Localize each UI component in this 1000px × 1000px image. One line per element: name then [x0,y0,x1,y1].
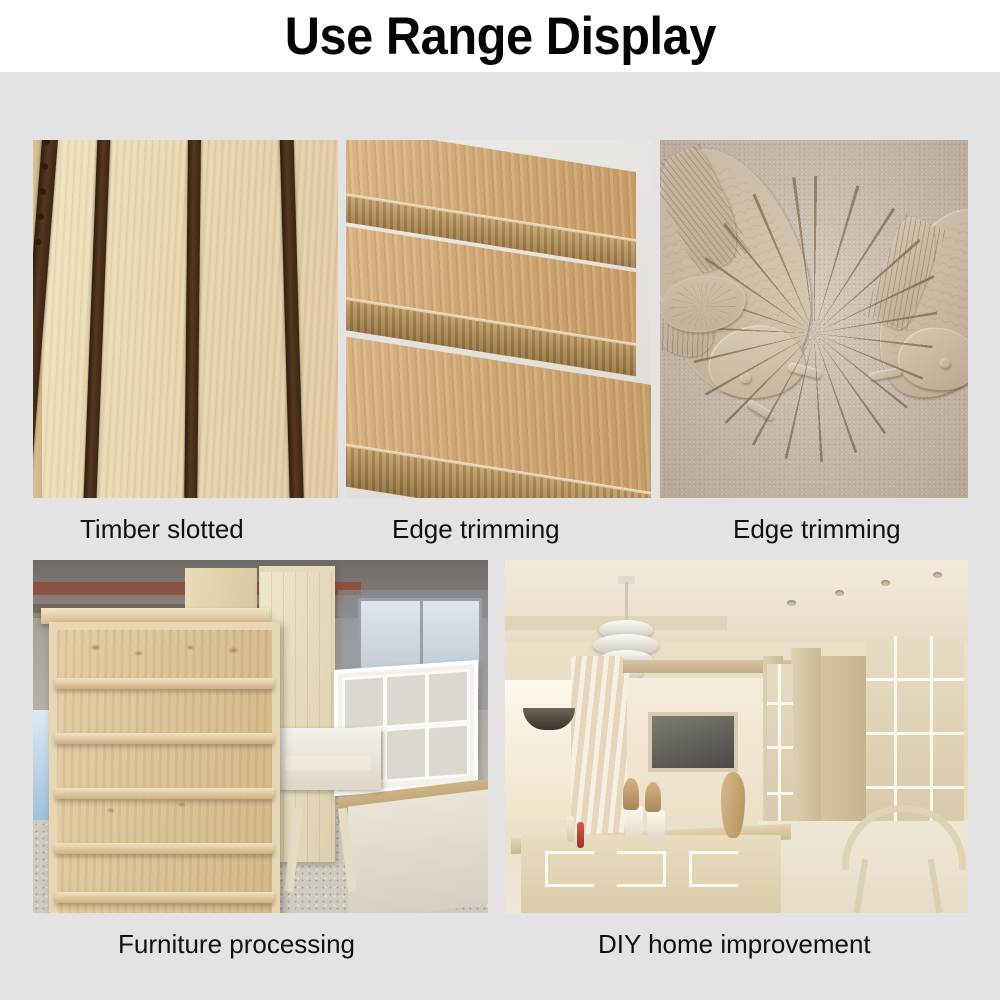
pendant-rod [625,582,628,622]
wall-television [648,712,738,772]
caption-edge-trimming-boards: Edge trimming [392,514,560,544]
shelf-cube [384,671,428,728]
photo-slotted-timber-panel [33,140,338,498]
caption-furniture-processing: Furniture processing [118,929,355,959]
clear-bottle [567,816,574,842]
shelf-cube [426,723,470,780]
header-banner: Use Range Display [0,0,1000,72]
chair-backrest [842,805,966,870]
page-title: Use Range Display [284,9,715,65]
recessed-spotlight [835,590,844,596]
recessed-spotlight [881,580,890,586]
cone-ornament [645,782,661,812]
bookshelf-shelf [55,678,274,689]
shelf-cube [426,669,470,726]
lattice-partition-left [767,664,793,840]
pine-bookshelf [49,622,280,913]
paper-cup [647,810,665,840]
wooden-vase [721,772,745,838]
stool-leg [284,808,303,892]
bookshelf-shelf [55,892,274,903]
lattice-bar [866,786,964,789]
caption-edge-trimming-relief: Edge trimming [733,514,901,544]
photo-stacked-boards-edge [346,140,651,498]
shelf-cube [342,674,386,731]
photo-carved-koi-relief [660,140,968,498]
shelf-cube [384,725,428,782]
wishbone-chair [836,805,962,913]
red-bottle [577,822,584,848]
greek-key-motif [617,851,666,887]
paper-cup [625,806,643,840]
bookshelf-shelf [55,733,274,744]
lattice-bar [866,732,964,735]
pine-knots-texture [57,630,272,913]
promotional-image: Use Range Display Timber slotted [0,0,1000,1000]
lattice-bar [866,678,964,681]
caption-diy-home-improvement: DIY home improvement [598,929,871,959]
work-table [348,789,488,913]
machine-arm [285,756,371,770]
lattice-bar [778,664,781,840]
bookshelf-shelf [55,843,274,854]
work-stool [285,796,359,892]
stool-leg [338,808,357,892]
photo-vignette [660,140,968,498]
low-counter [521,835,781,913]
wood-column [791,648,821,848]
caption-timber-slotted: Timber slotted [80,514,244,544]
recessed-spotlight [933,572,942,578]
cone-ornament [623,778,639,810]
photo-furniture-workshop [33,560,488,913]
recessed-spotlight [787,600,796,606]
window-glow [505,680,575,820]
greek-key-motif [545,851,594,887]
bookshelf-shelf [55,788,274,799]
photo-interior-living-room [505,560,968,913]
greek-key-motif [689,851,738,887]
